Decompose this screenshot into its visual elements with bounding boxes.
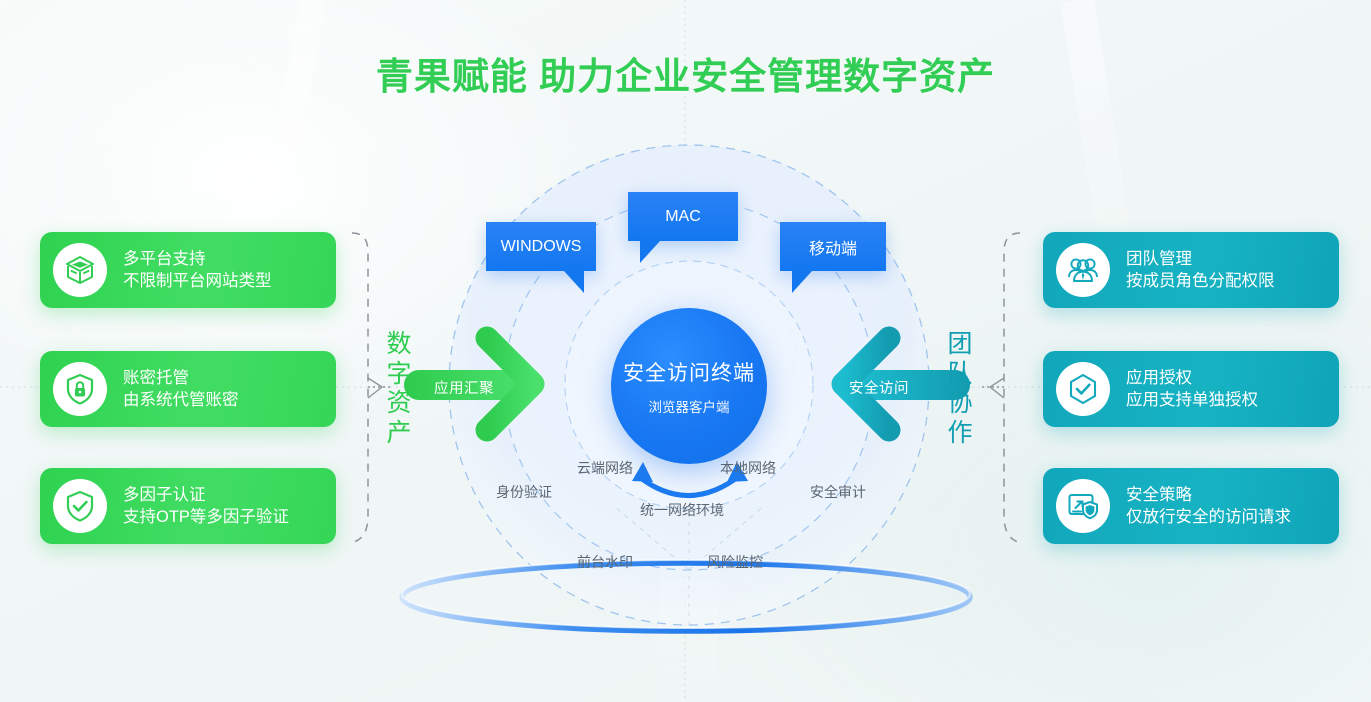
card-text: 团队管理 按成员角色分配权限: [1126, 248, 1275, 293]
card-text: 多平台支持 不限制平台网站类型: [123, 248, 272, 293]
card-subtitle: 支持OTP等多因子验证: [123, 506, 289, 528]
platform-bubble-mobile[interactable]: 移动端: [780, 222, 886, 271]
card-subtitle: 按成员角色分配权限: [1126, 270, 1275, 292]
core-subtitle: 浏览器客户端: [649, 396, 730, 416]
right-vertical-label: 团队协作: [945, 330, 975, 448]
card-subtitle: 仅放行安全的访问请求: [1126, 506, 1291, 528]
card-subtitle: 应用支持单独授权: [1126, 389, 1258, 411]
ring-label-unified-network: 统一网络环境: [640, 500, 724, 520]
background-streak: [655, 559, 720, 702]
card-subtitle: 由系统代管账密: [123, 389, 239, 411]
page-title: 青果赋能 助力企业安全管理数字资产: [0, 46, 1371, 100]
card-title: 团队管理: [1126, 248, 1275, 270]
infographic-stage: 青果赋能 助力企业安全管理数字资产 多平台支持 不限制平台网站类型: [0, 0, 1371, 702]
ring-label-security-audit: 安全审计: [810, 482, 866, 502]
platform-label: 移动端: [809, 235, 857, 259]
platform-bubble-windows[interactable]: WINDOWS: [486, 222, 596, 271]
card-title: 多平台支持: [123, 248, 272, 270]
card-text: 安全策略 仅放行安全的访问请求: [1126, 484, 1291, 529]
platform-bubble-mac[interactable]: MAC: [628, 192, 738, 241]
card-subtitle: 不限制平台网站类型: [123, 270, 272, 292]
feature-card-password-hosting[interactable]: 账密托管 由系统代管账密: [40, 351, 336, 427]
platform-label: MAC: [665, 208, 701, 226]
browser-shield-icon: [1056, 479, 1110, 533]
core-circle[interactable]: 安全访问终端 浏览器客户端: [611, 308, 767, 464]
card-text: 应用授权 应用支持单独授权: [1126, 367, 1258, 412]
left-flow-label: 应用汇聚: [434, 377, 494, 398]
card-title: 安全策略: [1126, 484, 1291, 506]
feature-card-team-management[interactable]: 团队管理 按成员角色分配权限: [1043, 232, 1339, 308]
left-vertical-label: 数字资产: [384, 330, 414, 448]
card-title: 多因子认证: [123, 484, 289, 506]
card-title: 应用授权: [1126, 367, 1258, 389]
people-group-icon: [1056, 243, 1110, 297]
ring-label-cloud-network: 云端网络: [577, 458, 633, 478]
core-title: 安全访问终端: [623, 357, 755, 387]
right-flow-label: 安全访问: [849, 377, 909, 398]
card-text: 多因子认证 支持OTP等多因子验证: [123, 484, 289, 529]
shield-lock-icon: [53, 362, 107, 416]
feature-card-mfa[interactable]: 多因子认证 支持OTP等多因子验证: [40, 468, 336, 544]
ring-label-front-watermark: 前台水印: [577, 552, 633, 572]
ring-label-risk-monitor: 风险监控: [707, 552, 763, 572]
platform-label: WINDOWS: [501, 238, 582, 256]
feature-card-app-authorization[interactable]: 应用授权 应用支持单独授权: [1043, 351, 1339, 427]
shield-check-icon: [53, 479, 107, 533]
feature-card-multi-platform[interactable]: 多平台支持 不限制平台网站类型: [40, 232, 336, 308]
card-title: 账密托管: [123, 367, 239, 389]
ring-label-identity-verification: 身份验证: [496, 482, 552, 502]
card-text: 账密托管 由系统代管账密: [123, 367, 239, 412]
hexagon-check-icon: [1056, 362, 1110, 416]
ring-label-local-network: 本地网络: [720, 458, 776, 478]
cube-box-icon: [53, 243, 107, 297]
feature-card-security-policy[interactable]: 安全策略 仅放行安全的访问请求: [1043, 468, 1339, 544]
